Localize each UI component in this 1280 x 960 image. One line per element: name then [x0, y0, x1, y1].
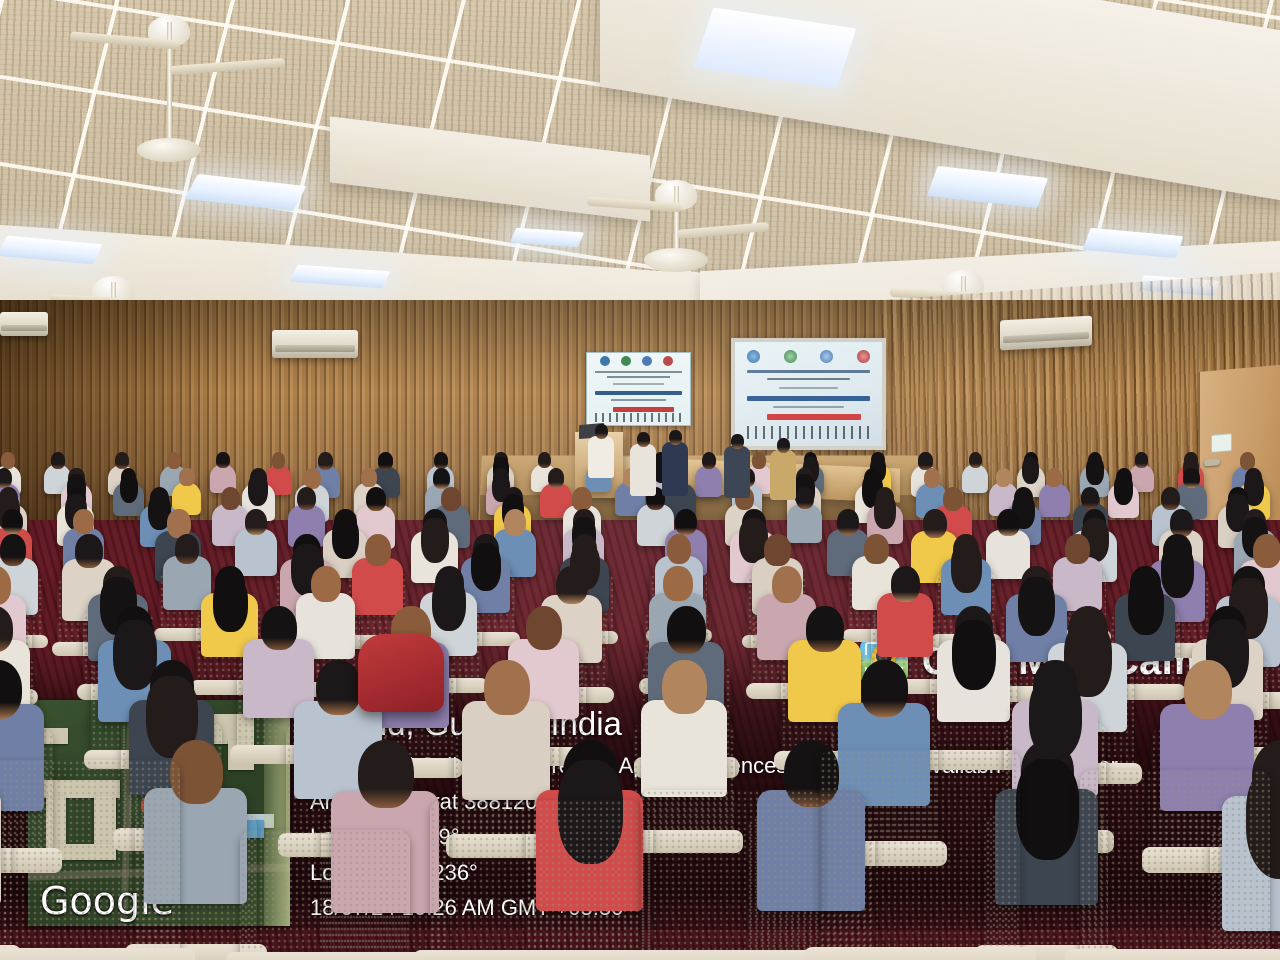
audience-member-head [433, 468, 450, 489]
audience-member-head [526, 606, 563, 650]
audience-member-head [997, 509, 1020, 536]
audience-member-head [272, 452, 286, 469]
audience-member [962, 464, 988, 493]
chair [820, 750, 1020, 960]
stage-person-head [595, 424, 608, 439]
audience-member-hair [248, 474, 268, 506]
audience-member-hair [1128, 577, 1164, 635]
audience-member [462, 701, 550, 800]
audience-member-head [864, 534, 889, 564]
audience-member-hair [1018, 577, 1055, 636]
audience-member-head [923, 509, 947, 538]
audience-member-head [667, 606, 706, 654]
audience-member-head [51, 452, 65, 469]
audience-member-head [675, 509, 697, 535]
stage-person [588, 436, 614, 478]
audience-member-head [318, 452, 333, 470]
audience-member-hair [874, 494, 896, 529]
audience-member-head [179, 468, 194, 486]
audience-member [1039, 483, 1070, 518]
chair [640, 790, 820, 960]
screenshot-root: GPS Map Camera Google Anand, Gujarat, In… [0, 0, 1280, 960]
audience-member-head [1184, 660, 1233, 719]
audience-member-head [361, 468, 376, 487]
audience-member-head [538, 452, 551, 468]
audience-member-hair [432, 577, 466, 632]
chair [1080, 770, 1270, 960]
audience-member-head [1161, 487, 1180, 510]
audience-member-hair [332, 517, 358, 559]
stage-person-head [731, 434, 744, 449]
audience-member-head [943, 487, 963, 511]
audience-member [877, 593, 934, 657]
audience-member-head [1135, 452, 1148, 468]
audience-member-hair [952, 620, 996, 690]
audience-member-hair [1016, 759, 1079, 859]
audience-member-head [662, 660, 706, 714]
audience-member-head [996, 468, 1011, 487]
audience-member-head [861, 660, 908, 717]
audience-member-head [891, 566, 920, 602]
audience-member-head [484, 660, 529, 715]
audience-member-head [115, 452, 129, 469]
audience-member-head [304, 468, 321, 489]
audience-member-hair [1161, 544, 1195, 598]
audience-member-head [667, 534, 692, 564]
audience-member-head [772, 566, 802, 603]
stage-person-head [637, 432, 650, 447]
audience-member-head [924, 468, 940, 488]
audience-member-head [663, 566, 692, 601]
audience-member-head [572, 487, 592, 511]
audience-member-hair [213, 577, 248, 633]
audience-member [235, 529, 277, 576]
audience-member-head [556, 566, 587, 604]
audience-member-head [1046, 468, 1062, 487]
audience-member-head [969, 452, 982, 468]
audience-member-hair [421, 518, 449, 563]
backpack [358, 634, 444, 712]
audience-member-hair [951, 543, 982, 592]
audience-member-head [441, 487, 461, 511]
stage-person [662, 442, 688, 496]
audience-member [787, 504, 822, 544]
audience-member-head [548, 468, 564, 488]
audience-member-head [366, 487, 386, 511]
audience-member-hair [1022, 457, 1039, 484]
audience-member-head [806, 606, 844, 652]
audience-member-head [0, 534, 26, 566]
audience-member-head [2, 509, 23, 534]
audience-member-head [764, 534, 790, 566]
audience-member-head [752, 452, 766, 469]
audience-member-head [1065, 534, 1090, 564]
audience-member-head [73, 509, 94, 534]
audience-member-head [221, 487, 240, 510]
audience-member-head [837, 509, 859, 535]
audience-member-head [1253, 534, 1280, 568]
audience-member-head [245, 509, 267, 535]
stage-person-head [669, 430, 682, 445]
audience-member-head [316, 660, 361, 715]
audience-member-head [1170, 509, 1193, 537]
audience-member [986, 530, 1030, 579]
audience-member-head [378, 452, 393, 470]
stage-person [770, 450, 796, 500]
chair [0, 760, 180, 960]
audience-member-hair [1086, 457, 1103, 485]
audience-member-head [358, 740, 414, 808]
audience-member [641, 700, 727, 797]
audience-member-head [365, 534, 391, 566]
audience-member-head [434, 452, 448, 469]
audience-member-head [504, 509, 526, 536]
chair [240, 830, 410, 960]
audience-member-head [1, 452, 15, 469]
audience-member-hair [120, 474, 138, 503]
audience-member-head [175, 534, 200, 564]
audience-member [352, 558, 403, 615]
audience-member-head [1081, 487, 1099, 509]
stage-person [724, 446, 750, 498]
audience-member-head [216, 452, 229, 468]
audience-member-head [702, 452, 716, 469]
stage-person-head [777, 438, 790, 453]
chair [430, 800, 640, 960]
audience-member-hair [471, 543, 501, 591]
photograph [0, 0, 1280, 960]
audience-member-head [1183, 468, 1200, 488]
audience-member-hair [1114, 474, 1133, 505]
audience-member-head [75, 534, 103, 568]
audience-member-head [297, 487, 316, 510]
audience-member-head [311, 566, 341, 602]
audience-member [695, 465, 723, 496]
audience-member-head [167, 452, 181, 469]
audience-member-head [261, 606, 297, 650]
audience-member-head [796, 487, 814, 509]
stage-person [630, 444, 656, 496]
